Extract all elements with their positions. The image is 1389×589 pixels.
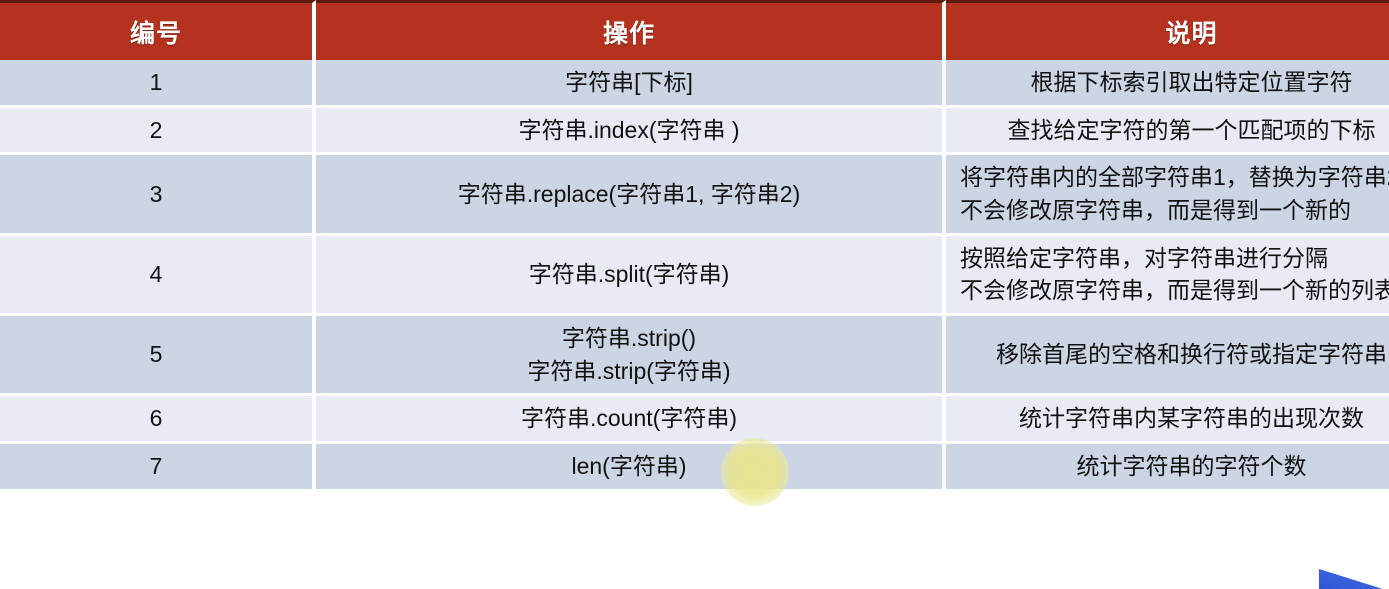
row-number-cell: 6 xyxy=(0,396,316,444)
description-cell: 将字符串内的全部字符串1，替换为字符串2不会修改原字符串，而是得到一个新的 xyxy=(946,155,1389,235)
description-line: 统计字符串内某字符串的出现次数 xyxy=(960,402,1389,435)
operation-line: 字符串.count(字符串) xyxy=(330,402,928,435)
operation-cell: 字符串.index(字符串 ) xyxy=(316,108,946,156)
operation-line: 字符串.split(字符串) xyxy=(330,258,928,291)
operation-line: 字符串.index(字符串 ) xyxy=(330,114,928,147)
table-row: 3字符串.replace(字符串1, 字符串2)将字符串内的全部字符串1，替换为… xyxy=(0,155,1389,235)
row-number-cell: 5 xyxy=(0,316,316,396)
operation-line: 字符串[下标] xyxy=(330,66,928,99)
table-row: 1字符串[下标]根据下标索引取出特定位置字符 xyxy=(0,60,1389,108)
operation-line: 字符串.replace(字符串1, 字符串2) xyxy=(330,178,928,211)
operation-line: 字符串.strip(字符串) xyxy=(330,355,928,388)
row-number-cell: 2 xyxy=(0,108,316,156)
table-body: 1字符串[下标]根据下标索引取出特定位置字符2字符串.index(字符串 )查找… xyxy=(0,60,1389,492)
description-line: 统计字符串的字符个数 xyxy=(960,450,1389,483)
row-number-cell: 7 xyxy=(0,444,316,492)
operation-cell: 字符串.replace(字符串1, 字符串2) xyxy=(316,155,946,235)
description-cell: 按照给定字符串，对字符串进行分隔不会修改原字符串，而是得到一个新的列表 xyxy=(946,236,1389,316)
row-number-cell: 1 xyxy=(0,60,316,108)
slide-canvas: 编号 操作 说明 1字符串[下标]根据下标索引取出特定位置字符2字符串.inde… xyxy=(0,0,1389,589)
table-row: 7len(字符串)统计字符串的字符个数 xyxy=(0,444,1389,492)
operation-cell: 字符串.count(字符串) xyxy=(316,396,946,444)
row-number-cell: 3 xyxy=(0,155,316,235)
operation-cell: len(字符串) xyxy=(316,444,946,492)
description-line: 不会修改原字符串，而是得到一个新的 xyxy=(960,194,1389,227)
table-header: 编号 操作 说明 xyxy=(0,0,1389,60)
table-row: 2字符串.index(字符串 )查找给定字符的第一个匹配项的下标 xyxy=(0,108,1389,156)
column-header-number: 编号 xyxy=(0,0,316,60)
description-line: 按照给定字符串，对字符串进行分隔 xyxy=(960,242,1389,275)
description-cell: 根据下标索引取出特定位置字符 xyxy=(946,60,1389,108)
description-line: 查找给定字符的第一个匹配项的下标 xyxy=(960,114,1389,147)
description-cell: 查找给定字符的第一个匹配项的下标 xyxy=(946,108,1389,156)
operation-line: 字符串.strip() xyxy=(330,322,928,355)
operation-cell: 字符串.strip()字符串.strip(字符串) xyxy=(316,316,946,396)
table-row: 4字符串.split(字符串)按照给定字符串，对字符串进行分隔不会修改原字符串，… xyxy=(0,236,1389,316)
string-methods-table: 编号 操作 说明 1字符串[下标]根据下标索引取出特定位置字符2字符串.inde… xyxy=(0,0,1389,492)
table-row: 6字符串.count(字符串)统计字符串内某字符串的出现次数 xyxy=(0,396,1389,444)
table-row: 5字符串.strip()字符串.strip(字符串)移除首尾的空格和换行符或指定… xyxy=(0,316,1389,396)
operation-cell: 字符串.split(字符串) xyxy=(316,236,946,316)
table-header-row: 编号 操作 说明 xyxy=(0,0,1389,60)
corner-accent-shape xyxy=(1319,567,1389,589)
description-cell: 统计字符串内某字符串的出现次数 xyxy=(946,396,1389,444)
operation-line: len(字符串) xyxy=(330,450,928,483)
row-number-cell: 4 xyxy=(0,236,316,316)
operation-cell: 字符串[下标] xyxy=(316,60,946,108)
description-line: 根据下标索引取出特定位置字符 xyxy=(960,66,1389,99)
description-line: 不会修改原字符串，而是得到一个新的列表 xyxy=(960,274,1389,307)
description-line: 将字符串内的全部字符串1，替换为字符串2 xyxy=(960,161,1389,194)
column-header-operation: 操作 xyxy=(316,0,946,60)
description-line: 移除首尾的空格和换行符或指定字符串 xyxy=(960,338,1389,371)
column-header-description: 说明 xyxy=(946,0,1389,60)
description-cell: 移除首尾的空格和换行符或指定字符串 xyxy=(946,316,1389,396)
description-cell: 统计字符串的字符个数 xyxy=(946,444,1389,492)
